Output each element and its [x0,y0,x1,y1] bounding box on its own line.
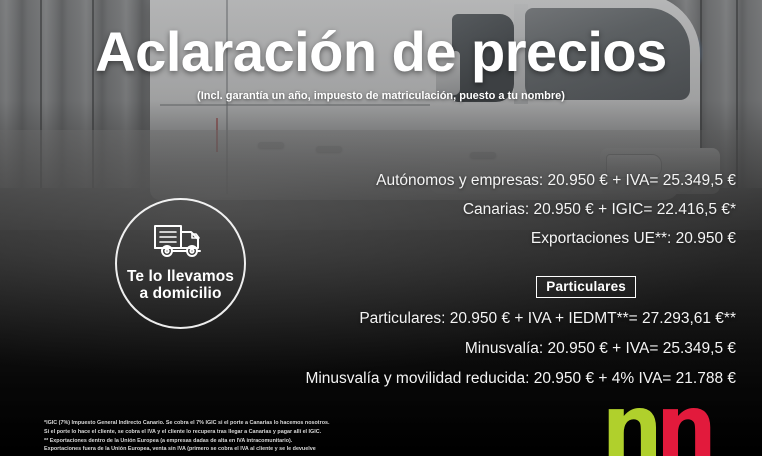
price-line-exportaciones: Exportaciones UE**: 20.950 € [96,224,736,253]
logo-letter-green: n [602,377,660,456]
footnotes-block: *IGIC (7%) Impuesto General Indirecto Ca… [44,419,474,454]
footnote-line-2: Si el porte lo hace el cliente, se cobra… [44,428,474,437]
price-clarification-poster: Aclaración de precios (Incl. garantía un… [0,0,762,456]
business-price-list: Autónomos y empresas: 20.950 € + IVA= 25… [96,166,736,253]
logo-letter-red: n [656,377,714,456]
price-line-particulares: Particulares: 20.950 € + IVA + IEDMT**= … [36,304,736,334]
brand-logo: nn [602,384,714,456]
price-line-canarias: Canarias: 20.950 € + IGIC= 22.416,5 €* [96,195,736,224]
footnote-line-3: ** Exportaciones dentro de la Unión Euro… [44,437,474,446]
footnote-line-1: *IGIC (7%) Impuesto General Indirecto Ca… [44,419,474,428]
particulares-label: Particulares [536,276,636,298]
page-title: Aclaración de precios [0,24,762,80]
footnote-line-4: Exportaciones fuera de la Unión Europea,… [44,445,474,454]
price-line-autonomos: Autónomos y empresas: 20.950 € + IVA= 25… [96,166,736,195]
price-line-minusvalia: Minusvalía: 20.950 € + IVA= 25.349,5 € [36,334,736,364]
particulares-section-header: Particulares [96,276,736,298]
page-subtitle: (Incl. garantía un año, impuesto de matr… [0,90,762,102]
